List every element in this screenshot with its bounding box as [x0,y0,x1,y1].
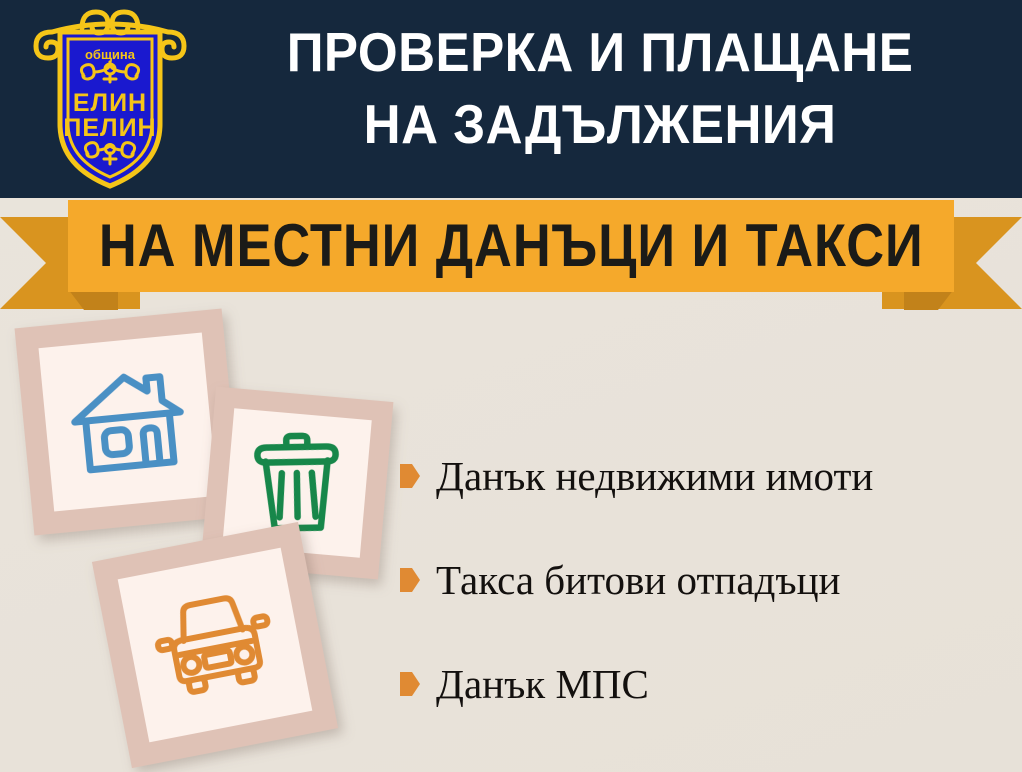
header-title-block: ПРОВЕРКА И ПЛАЩАНЕ НА ЗАДЪЛЖЕНИЯ [190,16,1010,160]
ribbon-main-panel: НА МЕСТНИ ДАНЪЦИ И ТАКСИ [68,200,954,292]
orange-arrow-bullet-icon [400,672,420,696]
house-icon [65,365,190,480]
ribbon-label: НА МЕСТНИ ДАНЪЦИ И ТАКСИ [99,211,924,281]
page-title-line-2: НА ЗАДЪЛЖЕНИЯ [219,88,982,160]
svg-text:ЕЛИН: ЕЛИН [73,89,147,117]
stamp-paper [118,548,313,743]
svg-text:община: община [85,47,136,62]
orange-arrow-bullet-icon [400,568,420,592]
page-title-line-1: ПРОВЕРКА И ПЛАЩАНЕ [219,16,982,88]
list-item[interactable]: Данък недвижими имоти [400,424,1000,528]
list-item-label: Данък МПС [436,664,649,705]
poster-canvas: община ЕЛИН ПЕЛИН [0,0,1022,772]
header-banner: община ЕЛИН ПЕЛИН [0,0,1022,198]
tax-type-list: Данък недвижими имоти Такса битови отпад… [400,424,1000,736]
list-item-label: Такса битови отпадъци [436,560,840,601]
coat-of-arms-emblem: община ЕЛИН ПЕЛИН [30,6,190,192]
car-front-icon [148,585,283,706]
trash-bin-icon [248,430,346,536]
stamp-paper [39,333,218,512]
orange-arrow-bullet-icon [400,464,420,488]
list-item-label: Данък недвижими имоти [436,456,873,497]
subtitle-ribbon: НА МЕСТНИ ДАНЪЦИ И ТАКСИ [0,196,1022,314]
list-item[interactable]: Данък МПС [400,632,1000,736]
coat-of-arms-icon: община ЕЛИН ПЕЛИН [30,6,190,192]
stamp-vehicle-tax [92,522,338,768]
list-item[interactable]: Такса битови отпадъци [400,528,1000,632]
svg-text:ПЕЛИН: ПЕЛИН [63,114,156,142]
